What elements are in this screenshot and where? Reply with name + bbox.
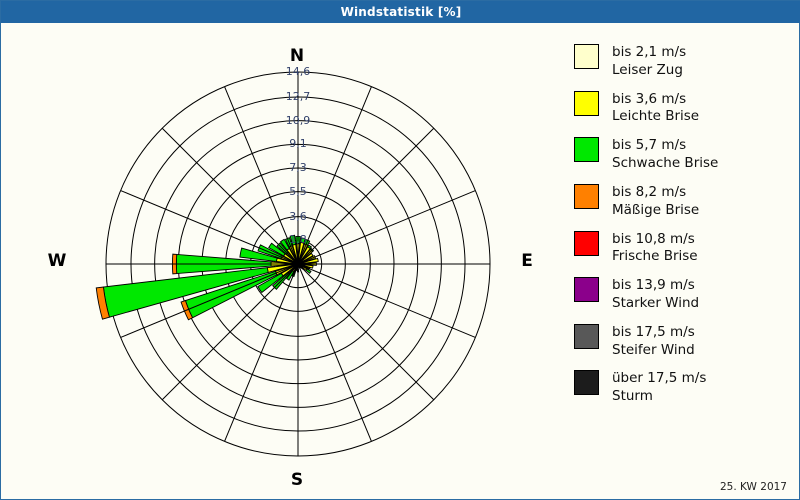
legend-beaufort-name: Starker Wind xyxy=(612,295,699,313)
legend-speed-range: bis 5,7 m/s xyxy=(612,137,718,155)
compass-label-north: N xyxy=(267,46,327,66)
legend-label: bis 8,2 m/sMäßige Brise xyxy=(612,184,699,220)
radial-tick-label: 3,6 xyxy=(276,210,320,223)
legend-beaufort-name: Mäßige Brise xyxy=(612,202,699,220)
wind-rose-plot-area: 1,83,65,57,39,110,912,714,6 N S W E bis … xyxy=(2,24,799,499)
legend-color-swatch xyxy=(574,231,599,256)
legend-item: über 17,5 m/sSturm xyxy=(574,370,794,406)
radial-tick-label: 9,1 xyxy=(276,137,320,150)
legend-item: bis 3,6 m/sLeichte Brise xyxy=(574,91,794,127)
radial-tick-label: 14,6 xyxy=(276,65,320,78)
legend-color-swatch xyxy=(574,370,599,395)
legend-speed-range: bis 13,9 m/s xyxy=(612,277,699,295)
radial-tick-label: 12,7 xyxy=(276,90,320,103)
footer-period: 25. KW 2017 xyxy=(720,481,787,493)
compass-label-east: E xyxy=(497,251,557,271)
legend-beaufort-name: Schwache Brise xyxy=(612,155,718,173)
legend-label: über 17,5 m/sSturm xyxy=(612,370,706,406)
legend-speed-range: bis 10,8 m/s xyxy=(612,231,698,249)
legend-item: bis 13,9 m/sStarker Wind xyxy=(574,277,794,313)
legend-color-swatch xyxy=(574,91,599,116)
legend-color-swatch xyxy=(574,137,599,162)
radial-tick-label: 1,8 xyxy=(276,233,320,246)
legend-speed-range: bis 17,5 m/s xyxy=(612,324,695,342)
legend-item: bis 5,7 m/sSchwache Brise xyxy=(574,137,794,173)
compass-label-west: W xyxy=(27,251,87,271)
legend-color-swatch xyxy=(574,44,599,69)
legend-item: bis 2,1 m/sLeiser Zug xyxy=(574,44,794,80)
legend-label: bis 13,9 m/sStarker Wind xyxy=(612,277,699,313)
legend-speed-range: bis 8,2 m/s xyxy=(612,184,699,202)
windstatistik-window: Windstatistik [%] 1,83,65,57,39,110,912,… xyxy=(0,0,800,500)
window-title-bar: Windstatistik [%] xyxy=(1,1,800,23)
legend-label: bis 2,1 m/sLeiser Zug xyxy=(612,44,686,80)
legend: bis 2,1 m/sLeiser Zugbis 3,6 m/sLeichte … xyxy=(574,44,794,417)
legend-speed-range: bis 2,1 m/s xyxy=(612,44,686,62)
legend-speed-range: bis 3,6 m/s xyxy=(612,91,699,109)
legend-beaufort-name: Frische Brise xyxy=(612,248,698,266)
legend-item: bis 8,2 m/sMäßige Brise xyxy=(574,184,794,220)
legend-item: bis 17,5 m/sSteifer Wind xyxy=(574,324,794,360)
polar-spokes xyxy=(106,72,490,456)
compass-label-south: S xyxy=(267,470,327,490)
radial-tick-label: 7,3 xyxy=(276,161,320,174)
legend-color-swatch xyxy=(574,324,599,349)
legend-label: bis 5,7 m/sSchwache Brise xyxy=(612,137,718,173)
legend-beaufort-name: Leiser Zug xyxy=(612,62,686,80)
legend-color-swatch xyxy=(574,184,599,209)
radial-tick-label: 5,5 xyxy=(276,185,320,198)
legend-color-swatch xyxy=(574,277,599,302)
legend-item: bis 10,8 m/sFrische Brise xyxy=(574,231,794,267)
legend-beaufort-name: Leichte Brise xyxy=(612,108,699,126)
legend-beaufort-name: Steifer Wind xyxy=(612,342,695,360)
legend-label: bis 10,8 m/sFrische Brise xyxy=(612,231,698,267)
radial-tick-label: 10,9 xyxy=(276,114,320,127)
legend-label: bis 17,5 m/sSteifer Wind xyxy=(612,324,695,360)
window-title: Windstatistik [%] xyxy=(341,5,462,19)
legend-beaufort-name: Sturm xyxy=(612,388,706,406)
legend-label: bis 3,6 m/sLeichte Brise xyxy=(612,91,699,127)
legend-speed-range: über 17,5 m/s xyxy=(612,370,706,388)
